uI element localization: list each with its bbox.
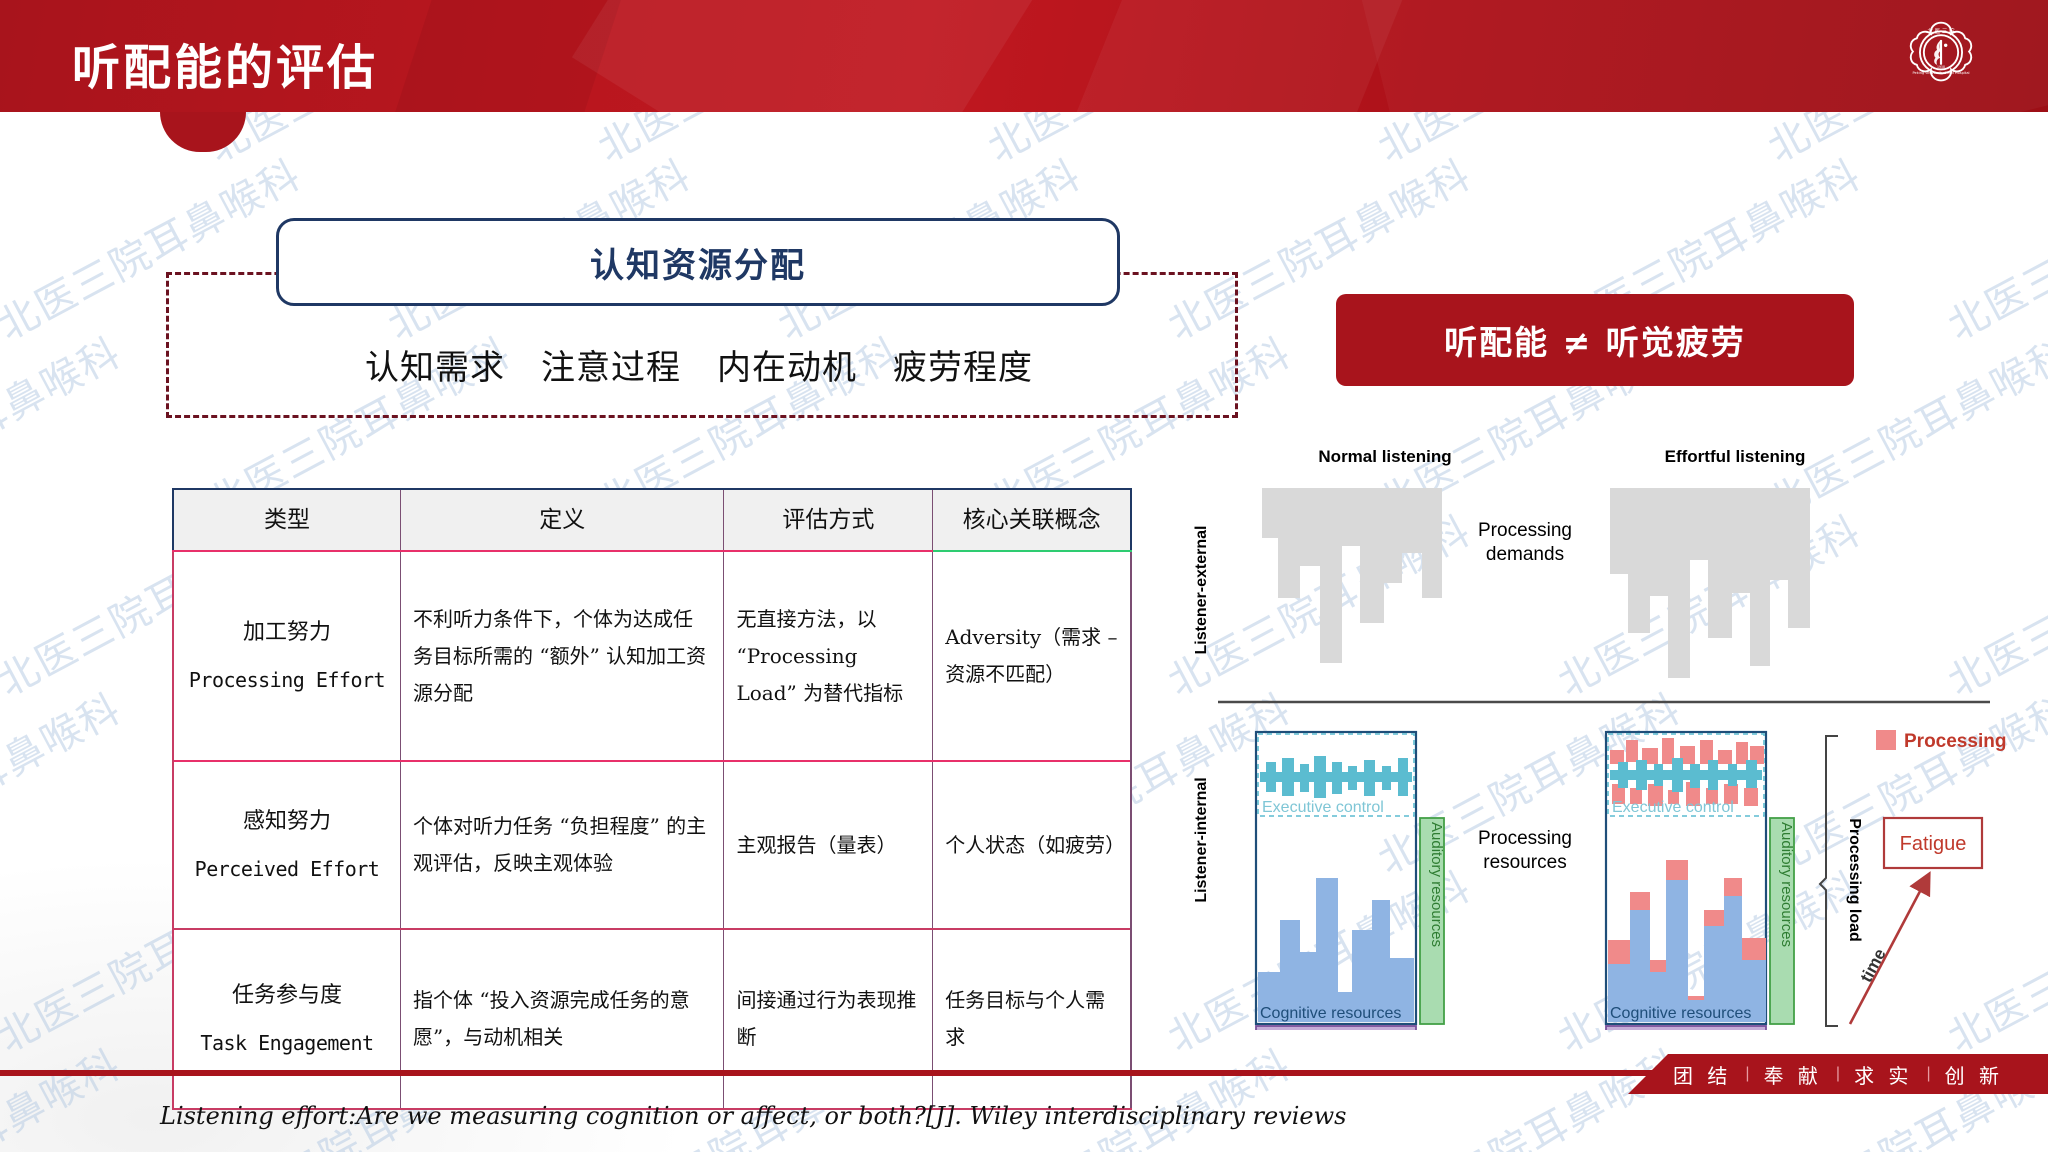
table-header-method: 评估方式 [724,489,933,551]
row2-type-en: Perceived Effort [186,851,388,888]
row1-type: 加工努力 Processing Effort [173,551,400,761]
ribbon-item-1: 团 结 [1673,1060,1731,1089]
ribbon-item-2: 奉 献 [1764,1060,1822,1089]
ribbon-sep-3: | [1926,1065,1930,1083]
callout-text: 听配能 ≠ 听觉疲劳 [1444,316,1746,364]
figure-processing-resources-line1: Processing [1478,828,1572,849]
table-header-concept: 核心关联概念 [933,489,1131,551]
header-shape-1 [572,0,1068,112]
row3-type-cn: 任务参与度 [186,976,388,1017]
figure-processing-demands-line2: demands [1486,544,1564,565]
figure-axis-listener-external: Listener-external [1193,526,1210,655]
row2-method: 主观报告（量表） [724,761,933,929]
figure-processing-demands-line1: Processing [1478,520,1572,541]
footer-ribbon: 团 结 | 奉 献 | 求 实 | 创 新 [1628,1054,2048,1094]
figure-executive-control-normal: Executive control [1262,799,1384,816]
row3-method: 间接通过行为表现推断 [724,929,933,1109]
row1-concept: Adversity（需求 – 资源不匹配） [933,551,1131,761]
ribbon-sep-2: | [1836,1065,1840,1083]
ribbon-item-3: 求 实 [1854,1060,1912,1089]
citation-text: Listening effort:Are we measuring cognit… [160,1102,1347,1130]
header-tab-notch [160,112,246,152]
listening-effort-figure: Normal listening Effortful listening Lis… [1190,440,2010,1030]
figure-legend-processing-effort: Processing effort [1904,731,2010,752]
row2-type: 感知努力 Perceived Effort [173,761,400,929]
row3-type: 任务参与度 Task Engagement [173,929,400,1109]
slide-header: 听配能的评估 [0,0,2048,112]
figure-axis-listener-internal: Listener-internal [1193,777,1210,902]
panel-effortful: Executive control [1606,732,1795,1030]
row2-type-cn: 感知努力 [186,802,388,843]
figure-processing-load-label: Processing load [1846,818,1863,942]
svg-text:1958: 1958 [1937,65,1945,69]
table-header-type: 类型 [173,489,400,551]
figure-auditory-resources-effortful: Auditory resources [1778,822,1795,947]
legend-swatch-processing-effort [1876,730,1896,750]
figure-col-title-normal: Normal listening [1318,447,1451,466]
figure-auditory-resources-normal: Auditory resources [1428,822,1445,947]
figure-time-label: time [1857,946,1890,986]
table-header-definition: 定义 [400,489,724,551]
ribbon-item-4: 创 新 [1945,1060,2003,1089]
row1-method: 无直接方法，以 “Processing Load” 为替代指标 [724,551,933,761]
row3-definition: 指个体 “投入资源完成任务的意愿”，与动机相关 [400,929,724,1109]
figure-col-title-effortful: Effortful listening [1665,447,1806,466]
slide-root: 听配能的评估 北 医 三 院 Peking University Third H… [0,0,2048,1152]
figure-executive-control-effortful: Executive control [1612,799,1734,816]
cognitive-term-3: 内在动机 [717,340,857,389]
figure-svg: Normal listening Effortful listening Lis… [1190,440,2010,1030]
effort-types-table: 类型 定义 评估方式 核心关联概念 加工努力 Processing Effort… [172,488,1132,1110]
row2-concept: 个人状态（如疲劳） [933,761,1131,929]
svg-text:Peking University Third Hospit: Peking University Third Hospital [1912,71,1969,75]
figure-processing-resources-line2: resources [1483,852,1566,873]
table-row: 感知努力 Perceived Effort 个体对听力任务 “负担程度” 的主观… [173,761,1131,929]
hospital-logo-icon: 北 医 三 院 Peking University Third Hospital… [1902,18,1980,96]
watermark-text: 北医三院耳鼻喉科 [1936,143,2048,352]
cognitive-term-1: 认知需求 [365,340,505,389]
table-row: 任务参与度 Task Engagement 指个体 “投入资源完成任务的意愿”，… [173,929,1131,1109]
callout-banner: 听配能 ≠ 听觉疲劳 [1336,294,1854,386]
cognitive-term-4: 疲劳程度 [893,340,1033,389]
panel-normal: Executive control Cognitive resources Au… [1256,732,1445,1030]
row3-type-en: Task Engagement [186,1025,388,1062]
cognitive-term-2: 注意过程 [541,340,681,389]
row3-concept: 任务目标与个人需求 [933,929,1131,1109]
processing-load-bracket [1820,736,1838,1026]
row1-type-cn: 加工努力 [186,613,388,654]
table-header-row: 类型 定义 评估方式 核心关联概念 [173,489,1131,551]
figure-cognitive-resources-normal: Cognitive resources [1260,1005,1401,1022]
row2-definition: 个体对听力任务 “负担程度” 的主观评估，反映主观体验 [400,761,724,929]
cognitive-terms-row: 认知需求 注意过程 内在动机 疲劳程度 [166,272,1232,412]
demands-skyline-effortful [1610,488,1810,678]
figure-fatigue-label: Fatigue [1900,833,1967,855]
table-row: 加工努力 Processing Effort 不利听力条件下，个体为达成任务目标… [173,551,1131,761]
page-title: 听配能的评估 [72,28,378,98]
row1-type-en: Processing Effort [186,662,388,699]
row1-definition: 不利听力条件下，个体为达成任务目标所需的 “额外” 认知加工资源分配 [400,551,724,761]
watermark-text: 北医三院耳鼻喉科 [0,321,130,530]
figure-cognitive-resources-effortful: Cognitive resources [1610,1005,1751,1022]
ribbon-sep-1: | [1745,1065,1749,1083]
demands-skyline-normal [1262,488,1442,663]
